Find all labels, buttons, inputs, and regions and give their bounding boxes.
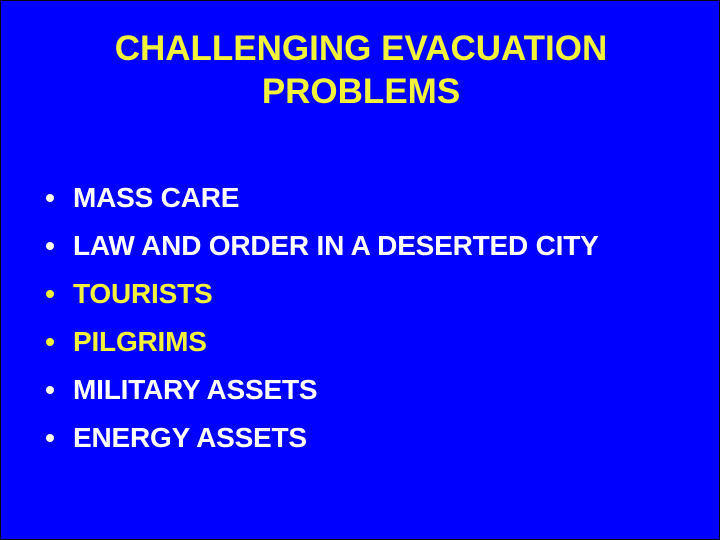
bullet-list: MASS CARE LAW AND ORDER IN A DESERTED CI… (45, 181, 665, 455)
bullet-dot-icon (46, 338, 54, 346)
list-item: PILGRIMS (45, 325, 665, 359)
bullet-dot-icon (46, 434, 54, 442)
bullet-dot-icon (46, 290, 54, 298)
bullet-dot-icon (46, 194, 54, 202)
bullet-dot-icon (46, 386, 54, 394)
presentation-slide: CHALLENGING EVACUATION PROBLEMS MASS CAR… (0, 0, 720, 540)
list-item-label: TOURISTS (73, 277, 665, 311)
list-item: LAW AND ORDER IN A DESERTED CITY (45, 229, 665, 263)
slide-title: CHALLENGING EVACUATION PROBLEMS (41, 27, 681, 113)
list-item-label: MILITARY ASSETS (73, 373, 665, 407)
bullet-dot-icon (46, 242, 54, 250)
list-item-label: MASS CARE (73, 181, 665, 215)
list-item: MILITARY ASSETS (45, 373, 665, 407)
list-item: MASS CARE (45, 181, 665, 215)
list-item: TOURISTS (45, 277, 665, 311)
list-item-label: LAW AND ORDER IN A DESERTED CITY (73, 229, 665, 263)
list-item-label: PILGRIMS (73, 325, 665, 359)
list-item-label: ENERGY ASSETS (73, 421, 665, 455)
list-item: ENERGY ASSETS (45, 421, 665, 455)
